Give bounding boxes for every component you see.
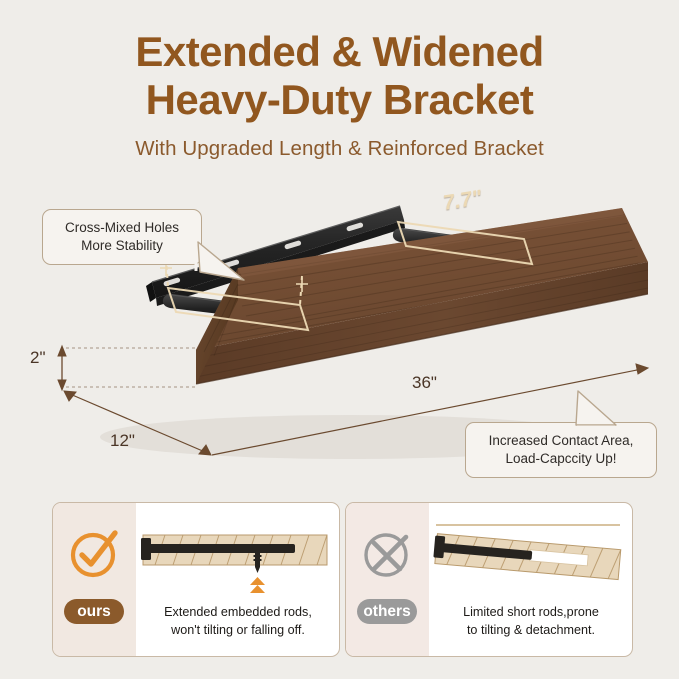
panel-others-caption: Limited short rods,prone to tilting & de…: [432, 603, 630, 640]
diagram-extended-rod: [139, 511, 337, 603]
callout-left-line-1: Cross-Mixed Holes: [55, 219, 189, 237]
callout-cross-mixed-holes: Cross-Mixed Holes More Stability: [42, 209, 202, 265]
panel-others-caption-line-2: to tilting & detachment.: [432, 621, 630, 639]
page-title-line-2: Heavy-Duty Bracket: [0, 76, 679, 124]
comparison-panels: ours: [0, 502, 679, 662]
callout-left-tail: [198, 242, 258, 284]
check-circle-icon: [67, 525, 123, 581]
page-subtitle: With Upgraded Length & Reinforced Bracke…: [0, 137, 679, 161]
diagram-short-rod: [432, 511, 630, 603]
up-arrow-icon: [250, 577, 265, 593]
dimension-label-depth: 12": [110, 431, 135, 451]
product-infographic: Extended & Widened Heavy-Duty Bracket Wi…: [0, 0, 679, 679]
panel-ours-caption-line-2: won't tilting or falling off.: [139, 621, 337, 639]
x-circle-icon: [360, 525, 416, 581]
dimension-label-length: 36": [412, 373, 437, 393]
dimension-thickness: [58, 346, 196, 390]
page-title-line-1: Extended & Widened: [0, 28, 679, 76]
panel-others-caption-line-1: Limited short rods,prone: [432, 603, 630, 621]
dimension-label-thickness: 2": [30, 348, 46, 368]
callout-right-tail: [566, 389, 626, 429]
callout-right-line-2: Load-Capccity Up!: [478, 450, 644, 468]
badge-others: others: [357, 599, 417, 624]
callout-right-line-1: Increased Contact Area,: [478, 432, 644, 450]
panel-ours-caption: Extended embedded rods, won't tilting or…: [139, 603, 337, 640]
hero-product-scene: 7.7" 2" 12" 36" Cross-Mixed Holes More S…: [0, 172, 679, 492]
callout-left-line-2: More Stability: [55, 237, 189, 255]
callout-increased-contact-area: Increased Contact Area, Load-Capccity Up…: [465, 422, 657, 478]
badge-ours: ours: [64, 599, 124, 624]
comparison-panel-ours: ours: [52, 502, 340, 657]
panel-ours-caption-line-1: Extended embedded rods,: [139, 603, 337, 621]
comparison-panel-others: others: [345, 502, 633, 657]
header: Extended & Widened Heavy-Duty Bracket Wi…: [0, 28, 679, 161]
